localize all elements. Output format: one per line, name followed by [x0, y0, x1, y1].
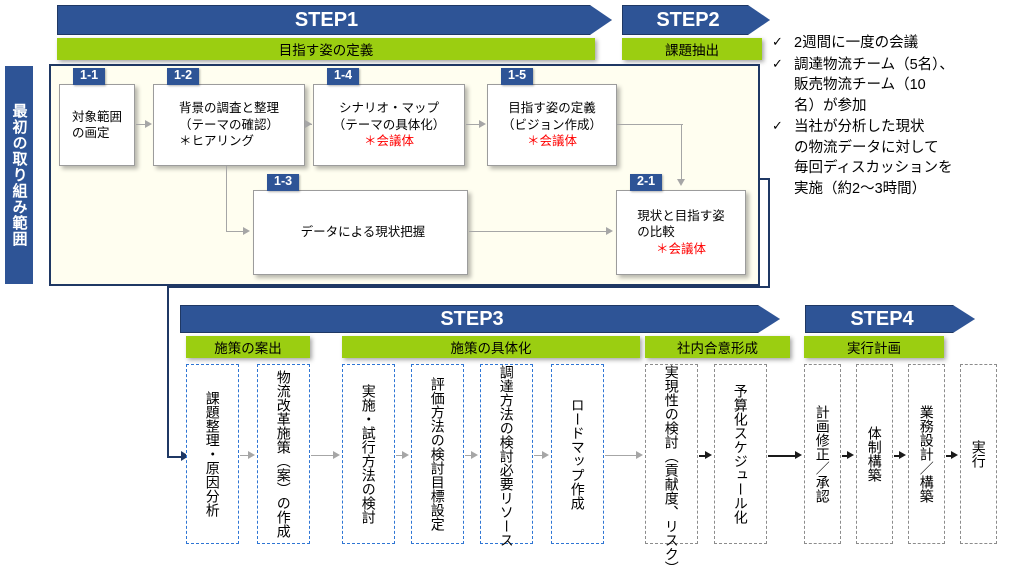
check-icon: ✓	[772, 33, 794, 54]
vtask-box-hyouka-houhou: 評価方法の検討 目標設定	[411, 364, 464, 544]
arrowhead-v4	[402, 451, 409, 459]
meeting-marker-1-4: ＊会議体	[333, 133, 446, 150]
step4-label: STEP4	[850, 308, 913, 331]
meeting-marker-1-5: ＊会議体	[502, 133, 602, 150]
vtask-text-butsuryu-kaikaku: 物流改革施策 （案）の作成	[275, 370, 292, 538]
vtask-text-jitsugensei: 実現性の検討 （貢献度、リスク）	[663, 365, 680, 543]
arrowhead-v3	[333, 451, 340, 459]
vtask-text-gyoumu-sekkei: 業務設計／構築	[918, 405, 935, 503]
arrowhead-v10	[847, 451, 854, 459]
list-item: ✓ 2週間に一度の会議	[772, 33, 1012, 54]
list-item: ✓ 当社が分析した現状 の物流データに対して 毎回ディスカッションを 実施（約2…	[772, 117, 1012, 199]
vtask-box-jisshi-shikou: 実施・試行方法 の検討	[342, 364, 395, 544]
wrap-connector-bottom-horizontal	[167, 286, 770, 288]
arrowhead-1-4	[305, 120, 312, 128]
phase-label-gutaika: 施策の具体化	[451, 337, 532, 357]
arrowhead-1-2	[145, 120, 152, 128]
task-tag-2-1: 2-1	[630, 174, 662, 191]
arrowhead-v2	[248, 451, 255, 459]
meeting-marker-2-1: ＊会議体	[637, 241, 725, 258]
vtask-text-hyouka-houhou: 評価方法の検討 目標設定	[429, 377, 446, 531]
vtask-box-gyoumu-sekkei: 業務設計／構築	[908, 364, 945, 544]
step2-header: STEP2	[622, 5, 770, 35]
connector-1-4-to-1-5	[466, 124, 480, 125]
phase-bar-goui: 社内合意形成	[645, 336, 790, 358]
step4-header: STEP4	[805, 305, 975, 333]
note-text: 2週間に一度の会議	[794, 33, 1012, 54]
vtask-text-roadmap: ロードマップ作成	[569, 398, 586, 510]
phase-label-step1: 目指す姿の定義	[279, 39, 374, 59]
task-box-1-2: 背景の調査と整理 （テーマの確認） ＊ヒアリング	[153, 84, 305, 166]
step3-label: STEP3	[440, 308, 503, 331]
connector-v8-v9	[768, 455, 796, 457]
phase-label-anshutsu: 施策の案出	[214, 337, 282, 357]
task-text-1-5: 目指す姿の定義 （ビジョン作成） ＊会議体	[499, 100, 605, 150]
wrap-connector-left-vertical	[167, 286, 169, 458]
phase-bar-anshutsu: 施策の案出	[186, 336, 310, 358]
arrowhead-v11	[899, 451, 906, 459]
arrowhead-1-3	[243, 227, 250, 235]
connector-1-5-right	[617, 124, 683, 125]
connector-v2-v3	[311, 455, 334, 456]
task-tag-1-2: 1-2	[167, 68, 199, 85]
step3-header: STEP3	[180, 305, 780, 333]
connector-v6-v7	[605, 455, 637, 456]
vtask-text-taisei-kouchiku: 体制構築	[866, 426, 883, 482]
task-box-1-5: 目指す姿の定義 （ビジョン作成） ＊会議体	[487, 84, 617, 166]
step1-label: STEP1	[295, 9, 358, 32]
arrowhead-v7	[636, 451, 643, 459]
vtask-box-keikaku-shuusei: 計画修正／承認	[804, 364, 841, 544]
phase-label-goui: 社内合意形成	[677, 337, 758, 357]
step2-label: STEP2	[656, 9, 719, 32]
vtask-box-yosanka: 予算化 スケジュール化	[714, 364, 767, 544]
phase-bar-gutaika: 施策の具体化	[342, 336, 640, 358]
vtask-box-jitsugensei: 実現性の検討 （貢献度、リスク）	[645, 364, 698, 544]
phase-bar-step1: 目指す姿の定義	[57, 38, 595, 60]
vtask-box-jikkou: 実行	[960, 364, 997, 544]
task-tag-1-5: 1-5	[501, 68, 533, 85]
vtask-box-roadmap: ロードマップ作成	[551, 364, 604, 544]
vtask-box-butsuryu-kaikaku: 物流改革施策 （案）の作成	[257, 364, 310, 544]
phase-bar-step2: 課題抽出	[622, 38, 762, 60]
arrowhead-2-1-top	[677, 179, 685, 186]
wrap-connector-top-horizontal	[758, 178, 770, 180]
vtask-text-jisshi-shikou: 実施・試行方法 の検討	[360, 384, 377, 524]
task-box-1-1: 対象範囲 の画定	[59, 84, 135, 166]
task-text-1-1: 対象範囲 の画定	[69, 109, 125, 142]
task-box-2-1: 現状と目指す姿 の比較 ＊会議体	[616, 190, 746, 275]
task-text-1-4: シナリオ・マップ （テーマの具体化） ＊会議体	[330, 100, 449, 150]
check-icon: ✓	[772, 117, 794, 199]
check-icon: ✓	[772, 55, 794, 117]
task-box-1-3: データによる現状把握	[253, 190, 468, 275]
scope-vertical-label-text: 最初の取り組み範囲	[9, 103, 30, 247]
vtask-text-keikaku-shuusei: 計画修正／承認	[814, 405, 831, 503]
step1-header: STEP1	[57, 5, 612, 35]
note-text: 当社が分析した現状 の物流データに対して 毎回ディスカッションを 実施（約2〜3…	[794, 117, 1012, 199]
arrowhead-1-5	[479, 120, 486, 128]
task-tag-1-3: 1-3	[267, 174, 299, 191]
phase-label-step2: 課題抽出	[665, 39, 719, 59]
phase-label-keikaku: 実行計画	[847, 337, 901, 357]
vtask-text-yosanka: 予算化 スケジュール化	[732, 384, 749, 524]
task-text-1-3: データによる現状把握	[293, 224, 429, 241]
arrowhead-2-1-left	[606, 227, 613, 235]
vtask-box-taisei-kouchiku: 体制構築	[856, 364, 893, 544]
vtask-text-chotatsu-houhou: 調達方法の検討 必要リソース	[498, 365, 515, 543]
task-box-1-4: シナリオ・マップ （テーマの具体化） ＊会議体	[313, 84, 465, 166]
vtask-box-kadai-seiri: 課題整理・原因分析	[186, 364, 239, 544]
connector-1-2-down	[226, 166, 227, 232]
arrowhead-v5	[471, 451, 478, 459]
connector-1-5-down	[681, 124, 682, 180]
arrowhead-v12	[951, 451, 958, 459]
task-tag-1-1: 1-1	[73, 68, 105, 85]
vtask-box-chotatsu-houhou: 調達方法の検討 必要リソース	[480, 364, 533, 544]
phase-bar-keikaku: 実行計画	[804, 336, 944, 358]
connector-1-2-to-1-3	[226, 231, 244, 232]
arrowhead-v8	[705, 451, 712, 459]
note-text: 調達物流チーム（5名）、 販売物流チーム（10 名）が参加	[794, 55, 1012, 117]
vtask-text-jikkou: 実行	[970, 440, 987, 468]
notes-list: ✓ 2週間に一度の会議 ✓ 調達物流チーム（5名）、 販売物流チーム（10 名）…	[772, 33, 1012, 201]
arrowhead-v6	[542, 451, 549, 459]
task-text-2-1: 現状と目指す姿 の比較 ＊会議体	[634, 208, 728, 258]
list-item: ✓ 調達物流チーム（5名）、 販売物流チーム（10 名）が参加	[772, 55, 1012, 117]
vtask-text-kadai-seiri: 課題整理・原因分析	[204, 391, 221, 517]
task-tag-1-4: 1-4	[327, 68, 359, 85]
connector-1-3-to-2-1	[469, 231, 607, 232]
scope-vertical-label: 最初の取り組み範囲	[5, 66, 33, 284]
wrap-connector-right-vertical	[768, 178, 770, 288]
task-text-1-2: 背景の調査と整理 （テーマの確認） ＊ヒアリング	[176, 100, 282, 150]
arrowhead-v9	[795, 451, 802, 459]
